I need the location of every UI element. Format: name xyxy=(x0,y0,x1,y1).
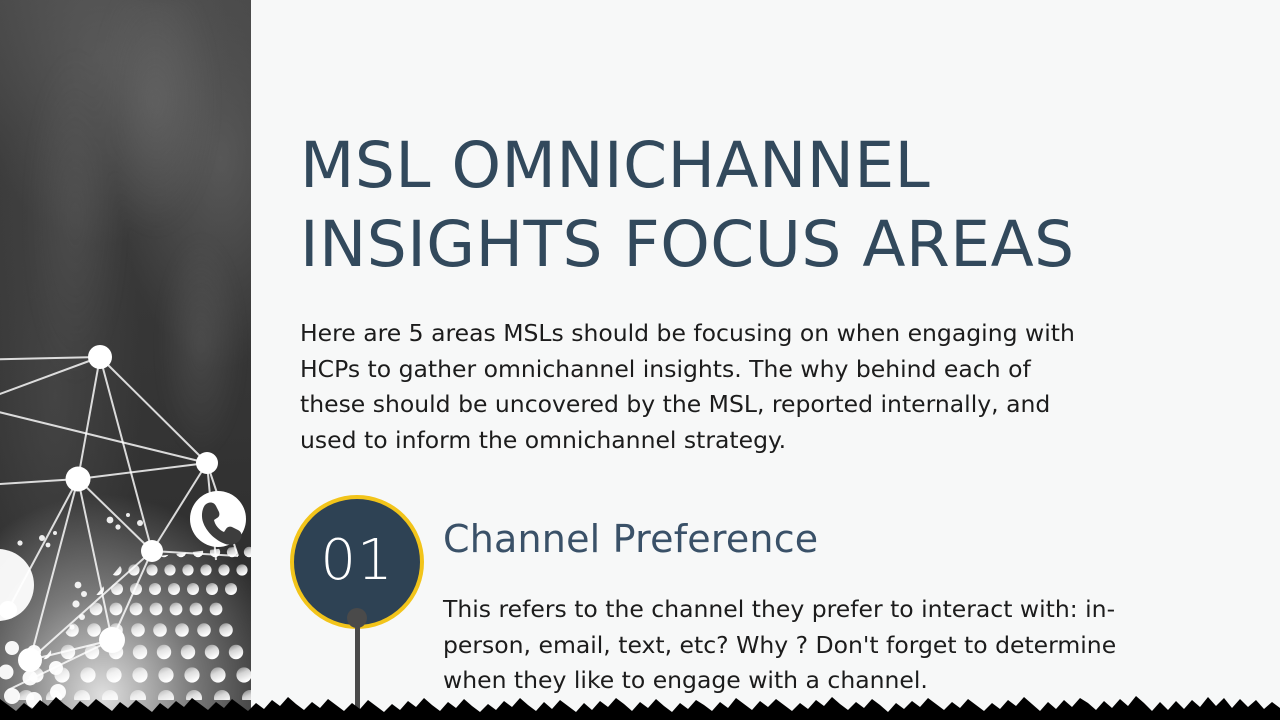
halftone-dot-pattern xyxy=(0,0,251,720)
left-image-panel xyxy=(0,0,251,720)
slide: MSL OMNICHANNEL INSIGHTS FOCUS AREAS Her… xyxy=(0,0,1280,720)
intro-paragraph: Here are 5 areas MSLs should be focusing… xyxy=(300,316,1100,458)
torn-paper-edge xyxy=(0,686,1280,720)
page-title: MSL OMNICHANNEL INSIGHTS FOCUS AREAS xyxy=(300,126,1180,284)
focus-area-title: Channel Preference xyxy=(443,516,1173,562)
number-badge-label: 01 xyxy=(320,533,393,589)
focus-area-description: This refers to the channel they prefer t… xyxy=(443,592,1173,699)
focus-area-body: Channel Preference This refers to the ch… xyxy=(443,516,1173,699)
slide-content: MSL OMNICHANNEL INSIGHTS FOCUS AREAS Her… xyxy=(300,0,1180,720)
